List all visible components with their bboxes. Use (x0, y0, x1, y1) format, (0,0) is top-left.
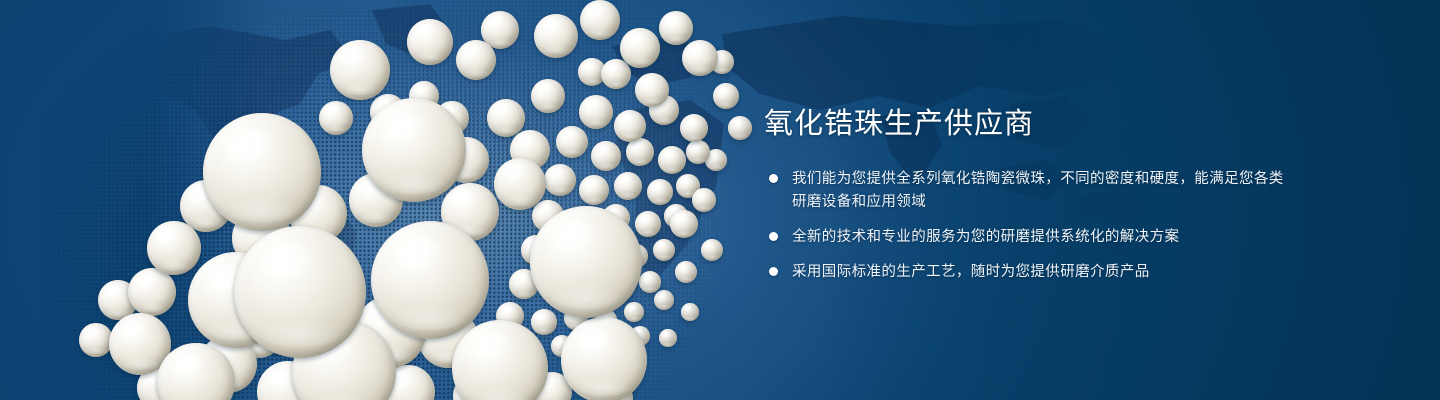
bead (675, 261, 697, 283)
bead (531, 79, 565, 113)
bead (701, 239, 723, 261)
bead (452, 320, 548, 400)
bead (659, 11, 693, 45)
bead (319, 101, 353, 135)
bead (79, 323, 113, 357)
bead (626, 138, 654, 166)
bead (407, 19, 453, 65)
bead (128, 268, 176, 316)
bead (556, 126, 588, 158)
bead (579, 175, 609, 205)
bead (670, 210, 698, 238)
list-item: 采用国际标准的生产工艺，随时为您提供研磨介质产品 (764, 261, 1284, 284)
bead (639, 271, 661, 293)
bead (614, 110, 646, 142)
bead (487, 99, 525, 137)
list-item-label: 我们能为您提供全系列氧化锆陶瓷微珠，不同的密度和硬度，能满足您各类研磨设备和应用… (792, 171, 1284, 210)
list-item-label: 采用国际标准的生产工艺，随时为您提供研磨介质产品 (792, 264, 1150, 280)
list-item: 全新的技术和专业的服务为您的研磨提供系统化的解决方案 (764, 226, 1284, 249)
page-title: 氧化锆珠生产供应商 (764, 104, 1284, 142)
bead (620, 28, 660, 68)
filled-circle-bullet-icon (769, 267, 778, 276)
bead (686, 140, 710, 164)
bead (728, 116, 752, 140)
bead (654, 290, 674, 310)
bead (681, 303, 699, 321)
bead (713, 83, 739, 109)
bead (682, 40, 718, 76)
bead (635, 73, 669, 107)
bead (658, 146, 686, 174)
list-item-label: 全新的技术和专业的服务为您的研磨提供系统化的解决方案 (792, 229, 1179, 245)
bead (635, 211, 661, 237)
bead (530, 206, 642, 318)
bead (531, 309, 557, 335)
hero-banner: 氧化锆珠生产供应商 我们能为您提供全系列氧化锆陶瓷微珠，不同的密度和硬度，能满足… (0, 0, 1440, 400)
banner-copy-block: 氧化锆珠生产供应商 我们能为您提供全系列氧化锆陶瓷微珠，不同的密度和硬度，能满足… (764, 104, 1284, 284)
filled-circle-bullet-icon (769, 232, 778, 241)
bead (692, 188, 716, 212)
bead (534, 14, 578, 58)
list-item: 我们能为您提供全系列氧化锆陶瓷微珠，不同的密度和硬度，能满足您各类研磨设备和应用… (764, 168, 1284, 214)
bead (659, 329, 677, 347)
bead (579, 95, 613, 129)
bead (624, 302, 644, 322)
bead (147, 221, 201, 275)
bead (680, 114, 708, 142)
bead (653, 239, 675, 261)
bead (456, 40, 496, 80)
bead (371, 221, 489, 339)
bead (203, 113, 321, 231)
bead (614, 172, 642, 200)
bead (561, 317, 647, 400)
filled-circle-bullet-icon (769, 174, 778, 183)
bead (580, 0, 620, 40)
bead (494, 158, 546, 210)
bead (330, 40, 390, 100)
feature-bullet-list: 我们能为您提供全系列氧化锆陶瓷微珠，不同的密度和硬度，能满足您各类研磨设备和应用… (764, 168, 1284, 284)
bead (591, 141, 621, 171)
bead (362, 98, 466, 202)
bead (647, 179, 673, 205)
bead (234, 226, 366, 358)
bead (544, 164, 576, 196)
zirconia-beads-product-image (0, 0, 780, 400)
